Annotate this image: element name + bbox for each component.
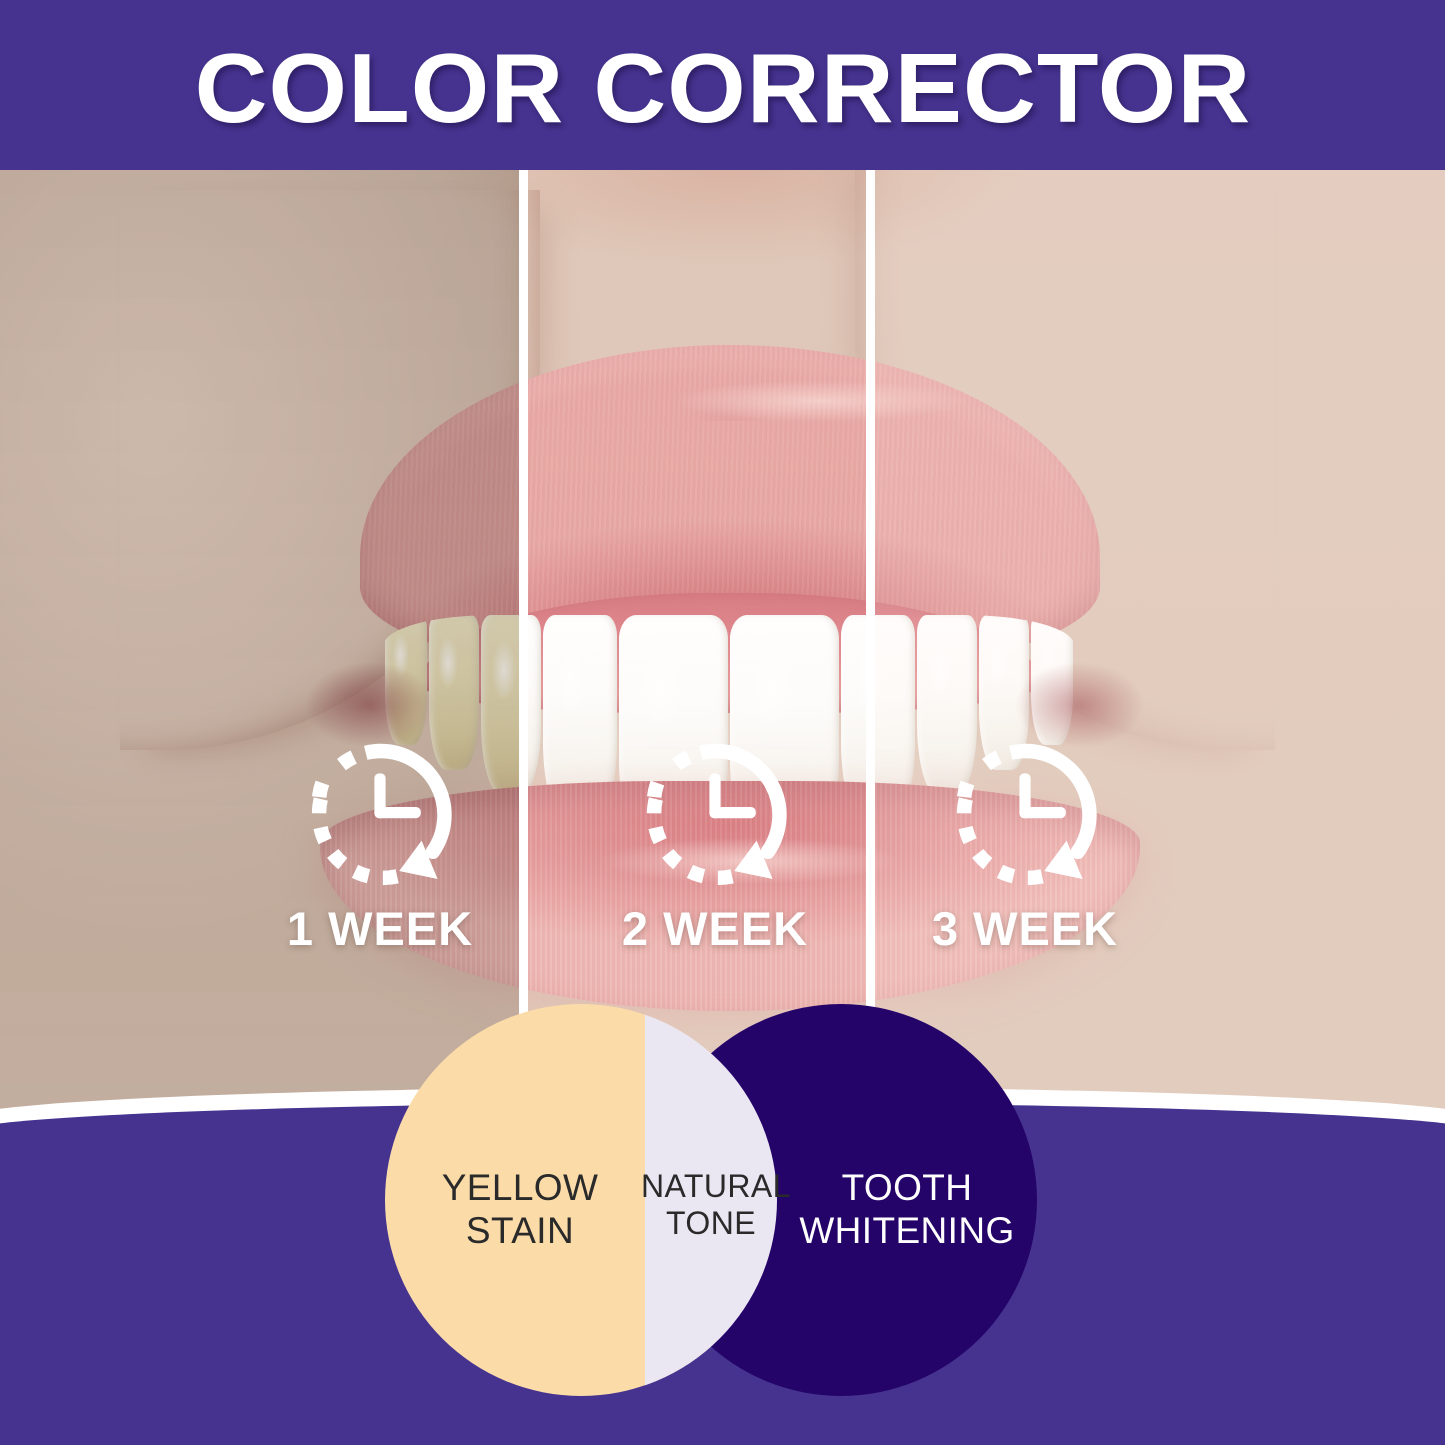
clock-arrow-icon [945,735,1105,895]
timeline-badge-label: 1 WEEK [255,905,505,952]
header-bar: COLOR CORRECTOR [0,0,1445,170]
tooth [528,615,541,795]
clock-arrow-icon [635,735,795,895]
venn-label-yellow-stain: YELLOW STAIN [395,1166,645,1253]
timeline-badge-label: 3 WEEK [900,905,1150,952]
upper-face-shadow [528,170,872,360]
venn-label-tooth-whitening: TOOTH WHITENING [783,1166,1031,1253]
timeline-badge-week-2: 2 WEEK [590,735,840,952]
product-comparison-poster: 1 WEEK 2 WEEK [0,0,1445,1445]
venn-diagram: YELLOW STAIN NATURAL TONE TOOTH WHITENIN… [385,1004,1037,1398]
clock-arrow-icon [300,735,460,895]
timeline-badge-week-1: 1 WEEK [255,735,505,952]
timeline-badge-week-3: 3 WEEK [900,735,1150,952]
venn-label-natural-tone: NATURAL TONE [641,1168,781,1243]
page-title: COLOR CORRECTOR [194,33,1251,137]
timeline-badge-label: 2 WEEK [590,905,840,952]
